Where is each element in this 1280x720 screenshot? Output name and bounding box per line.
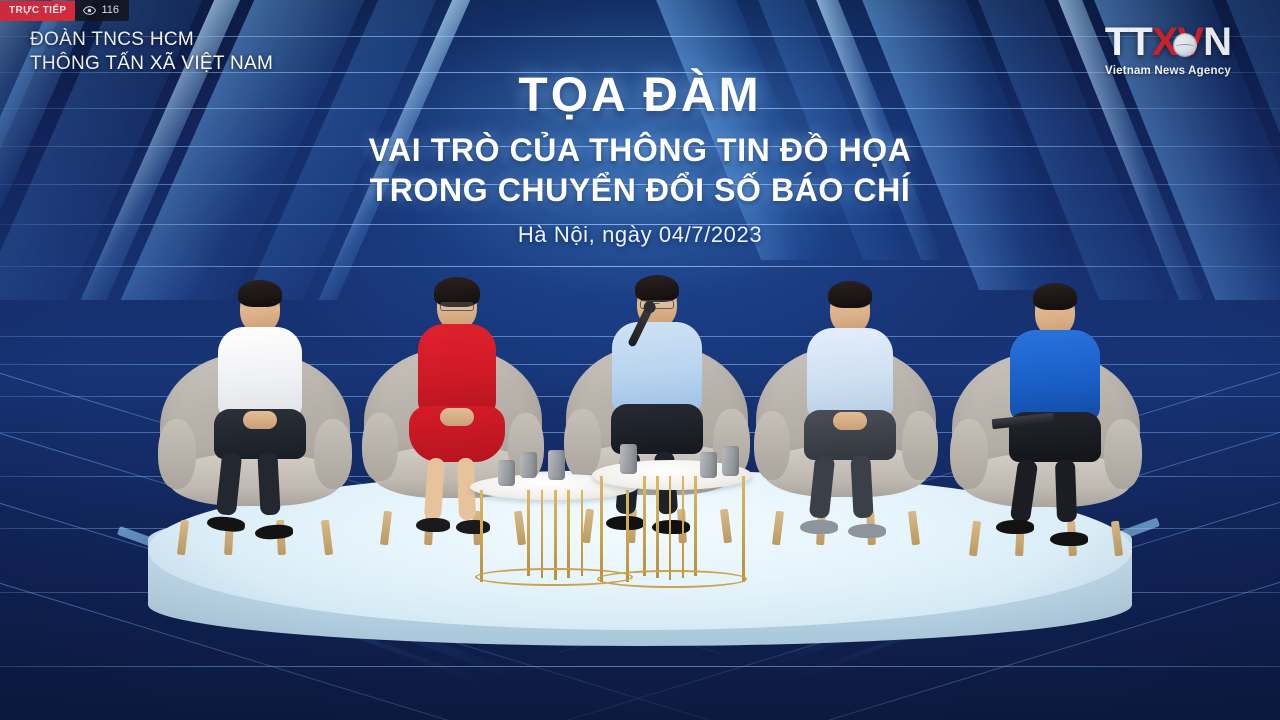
logo-wordmark: TTXVN (1105, 22, 1231, 62)
globe-icon (1174, 34, 1196, 56)
ttxvn-logo: TTXVN Vietnam News Agency (1078, 20, 1258, 77)
logo-tt: TT (1105, 20, 1152, 64)
ceramic-cup (498, 460, 515, 486)
broadcast-stage: TRỰC TIẾP 116 ĐOÀN TNCS HCM THÔNG TẤN XÃ… (0, 0, 1280, 720)
ceramic-cup (620, 444, 637, 474)
event-date: Hà Nội, ngày 04/7/2023 (0, 222, 1280, 248)
organization-name: ĐOÀN TNCS HCM THÔNG TẤN XÃ VIỆT NAM (30, 28, 273, 77)
eye-icon (83, 6, 96, 15)
subtitle-line-1: VAI TRÒ CỦA THÔNG TIN ĐỒ HỌA (0, 130, 1280, 170)
ceramic-cup (722, 446, 739, 476)
viewer-count: 116 (75, 0, 129, 21)
page-title: TỌA ĐÀM (0, 70, 1280, 122)
logo-n: N (1203, 20, 1231, 64)
logo-tagline: Vietnam News Agency (1078, 65, 1258, 77)
ceramic-cup (548, 450, 565, 480)
organization-line-2: THÔNG TẤN XÃ VIỆT NAM (30, 52, 273, 76)
live-badge: TRỰC TIẾP (0, 1, 75, 21)
viewer-count-value: 116 (101, 4, 119, 16)
subtitle-line-2: TRONG CHUYỂN ĐỔI SỐ BÁO CHÍ (0, 170, 1280, 210)
panelist-5 (1000, 288, 1110, 568)
ceramic-cup (700, 452, 717, 478)
panelist-4 (796, 286, 904, 564)
coffee-table-right (592, 460, 752, 588)
live-status-bar: TRỰC TIẾP 116 (0, 0, 129, 21)
event-titles: TỌA ĐÀM VAI TRÒ CỦA THÔNG TIN ĐỒ HỌA TRO… (0, 70, 1280, 248)
panelist-1 (205, 285, 315, 565)
ceramic-cup (520, 452, 537, 478)
organization-line-1: ĐOÀN TNCS HCM (30, 28, 273, 52)
